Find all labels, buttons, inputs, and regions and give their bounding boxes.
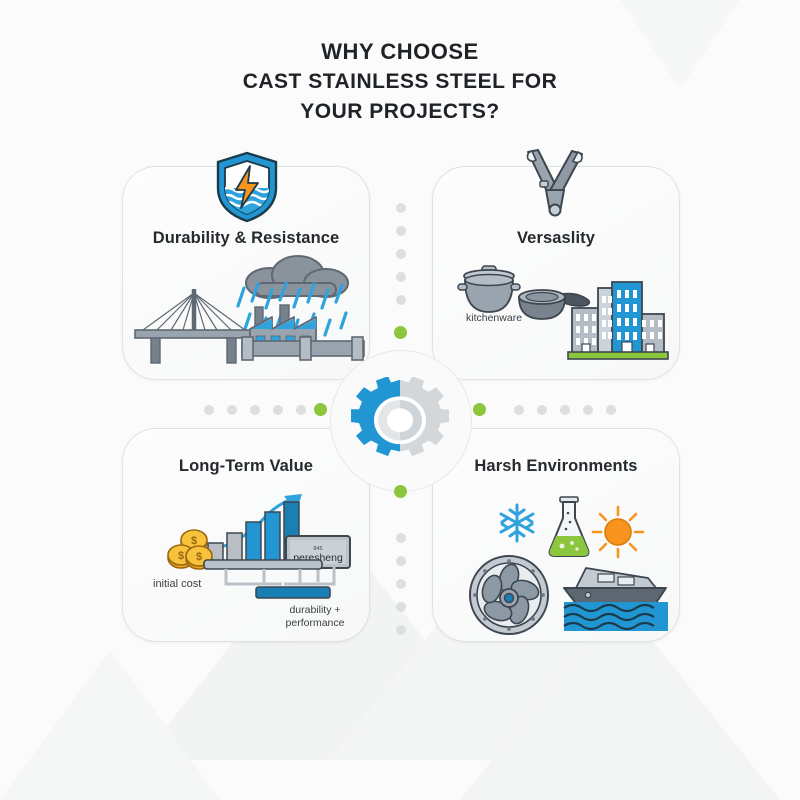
page-title: WHY CHOOSE CAST STAINLESS STEEL FOR YOUR… [0,36,800,127]
title-line-2: CAST STAINLESS STEEL FOR [0,67,800,97]
connector-dot [606,405,616,415]
chemical-flask-icon [546,496,592,558]
connector-dot-active [394,485,407,498]
quadrant-label-durability-resistance: Durability & Resistance [123,229,369,248]
shield-lightning-water-icon [212,150,282,224]
connector-dot [396,249,406,259]
svg-text:$: $ [178,550,184,562]
quadrant-label-long-term-value: Long-Term Value [123,457,369,476]
connector-dot-active [394,326,407,339]
caption-durability-performance: durability + performance [260,604,370,630]
connector-dot [396,556,406,566]
connector-dot [560,405,570,415]
connector-dot [227,405,237,415]
connector-dot [514,405,524,415]
title-line-3: YOUR PROJECTS? [0,97,800,127]
boat-waves-icon [562,564,670,632]
caption-line-durability: durability + [289,604,340,616]
connector-dot [396,295,406,305]
gear-icon[interactable] [345,365,455,475]
caption-kitchenware: kitchenware [466,312,522,324]
connector-dot [296,405,306,415]
svg-text:$: $ [191,535,197,547]
snowflake-icon [496,502,538,544]
bridge-icon [135,285,253,363]
connector-dot [396,272,406,282]
connector-dot [204,405,214,415]
connector-dot [537,405,547,415]
connector-dot [396,579,406,589]
pipeline-icon [242,336,364,362]
sun-icon [592,506,644,558]
connector-dot [583,405,593,415]
multi-tool-knife-icon [518,148,594,220]
connector-dot [396,625,406,635]
connector-dot [396,533,406,543]
infographic-canvas: WHY CHOOSE CAST STAINLESS STEEL FOR YOUR… [0,0,800,800]
quadrant-label-harsh-environments: Harsh Environments [433,457,679,476]
connector-dot-active [314,403,327,416]
connector-dot-active [473,403,486,416]
connector-dot [250,405,260,415]
caption-initial-cost: initial cost [153,578,201,590]
quadrant-label-versatility: Versaslity [433,229,679,248]
connector-dot [396,203,406,213]
connector-dot [396,602,406,612]
svg-text:$: $ [196,551,202,563]
industrial-fan-icon [468,554,550,636]
connector-dot [396,226,406,236]
office-buildings-icon [568,278,668,360]
title-line-1: WHY CHOOSE [0,36,800,67]
caption-line-performance: performance [286,617,345,629]
connector-dot [273,405,283,415]
